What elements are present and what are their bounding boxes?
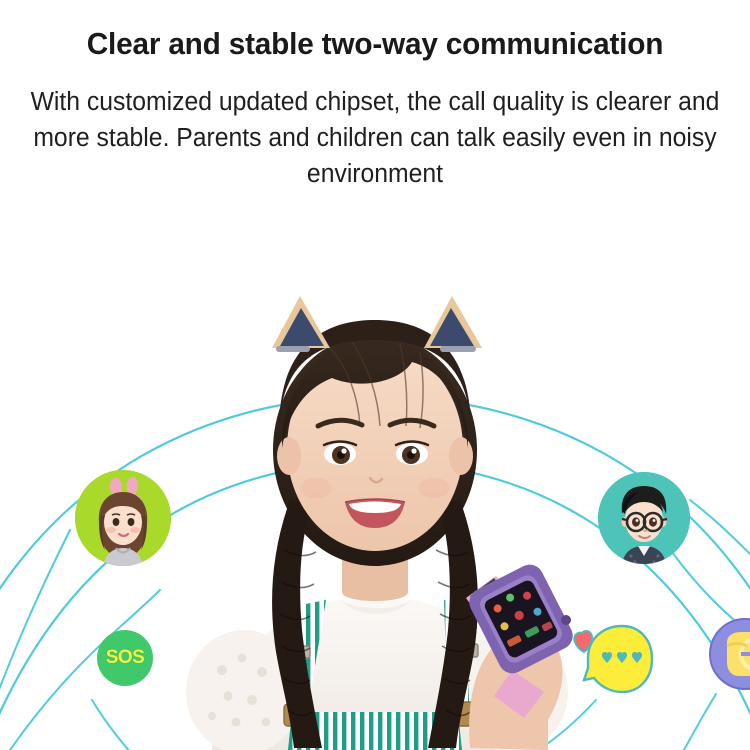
mom-avatar-icon <box>75 470 171 566</box>
illustration-scene: SOS <box>0 200 750 750</box>
contact-mom-avatar[interactable] <box>75 470 171 566</box>
sos-button[interactable]: SOS <box>97 630 153 686</box>
text-block: Clear and stable two-way communication W… <box>0 0 750 192</box>
page-subcopy: With customized updated chipset, the cal… <box>11 62 739 193</box>
contact-dad-avatar[interactable] <box>598 472 690 564</box>
sos-label: SOS <box>106 647 145 669</box>
badge-layer: SOS <box>0 200 750 750</box>
page-title: Clear and stable two-way communication <box>15 0 735 62</box>
chat-bubble[interactable] <box>570 618 656 700</box>
dad-avatar-icon <box>598 472 690 564</box>
marketing-page: Clear and stable two-way communication W… <box>0 0 750 750</box>
chat-bubble-icon <box>570 618 656 700</box>
